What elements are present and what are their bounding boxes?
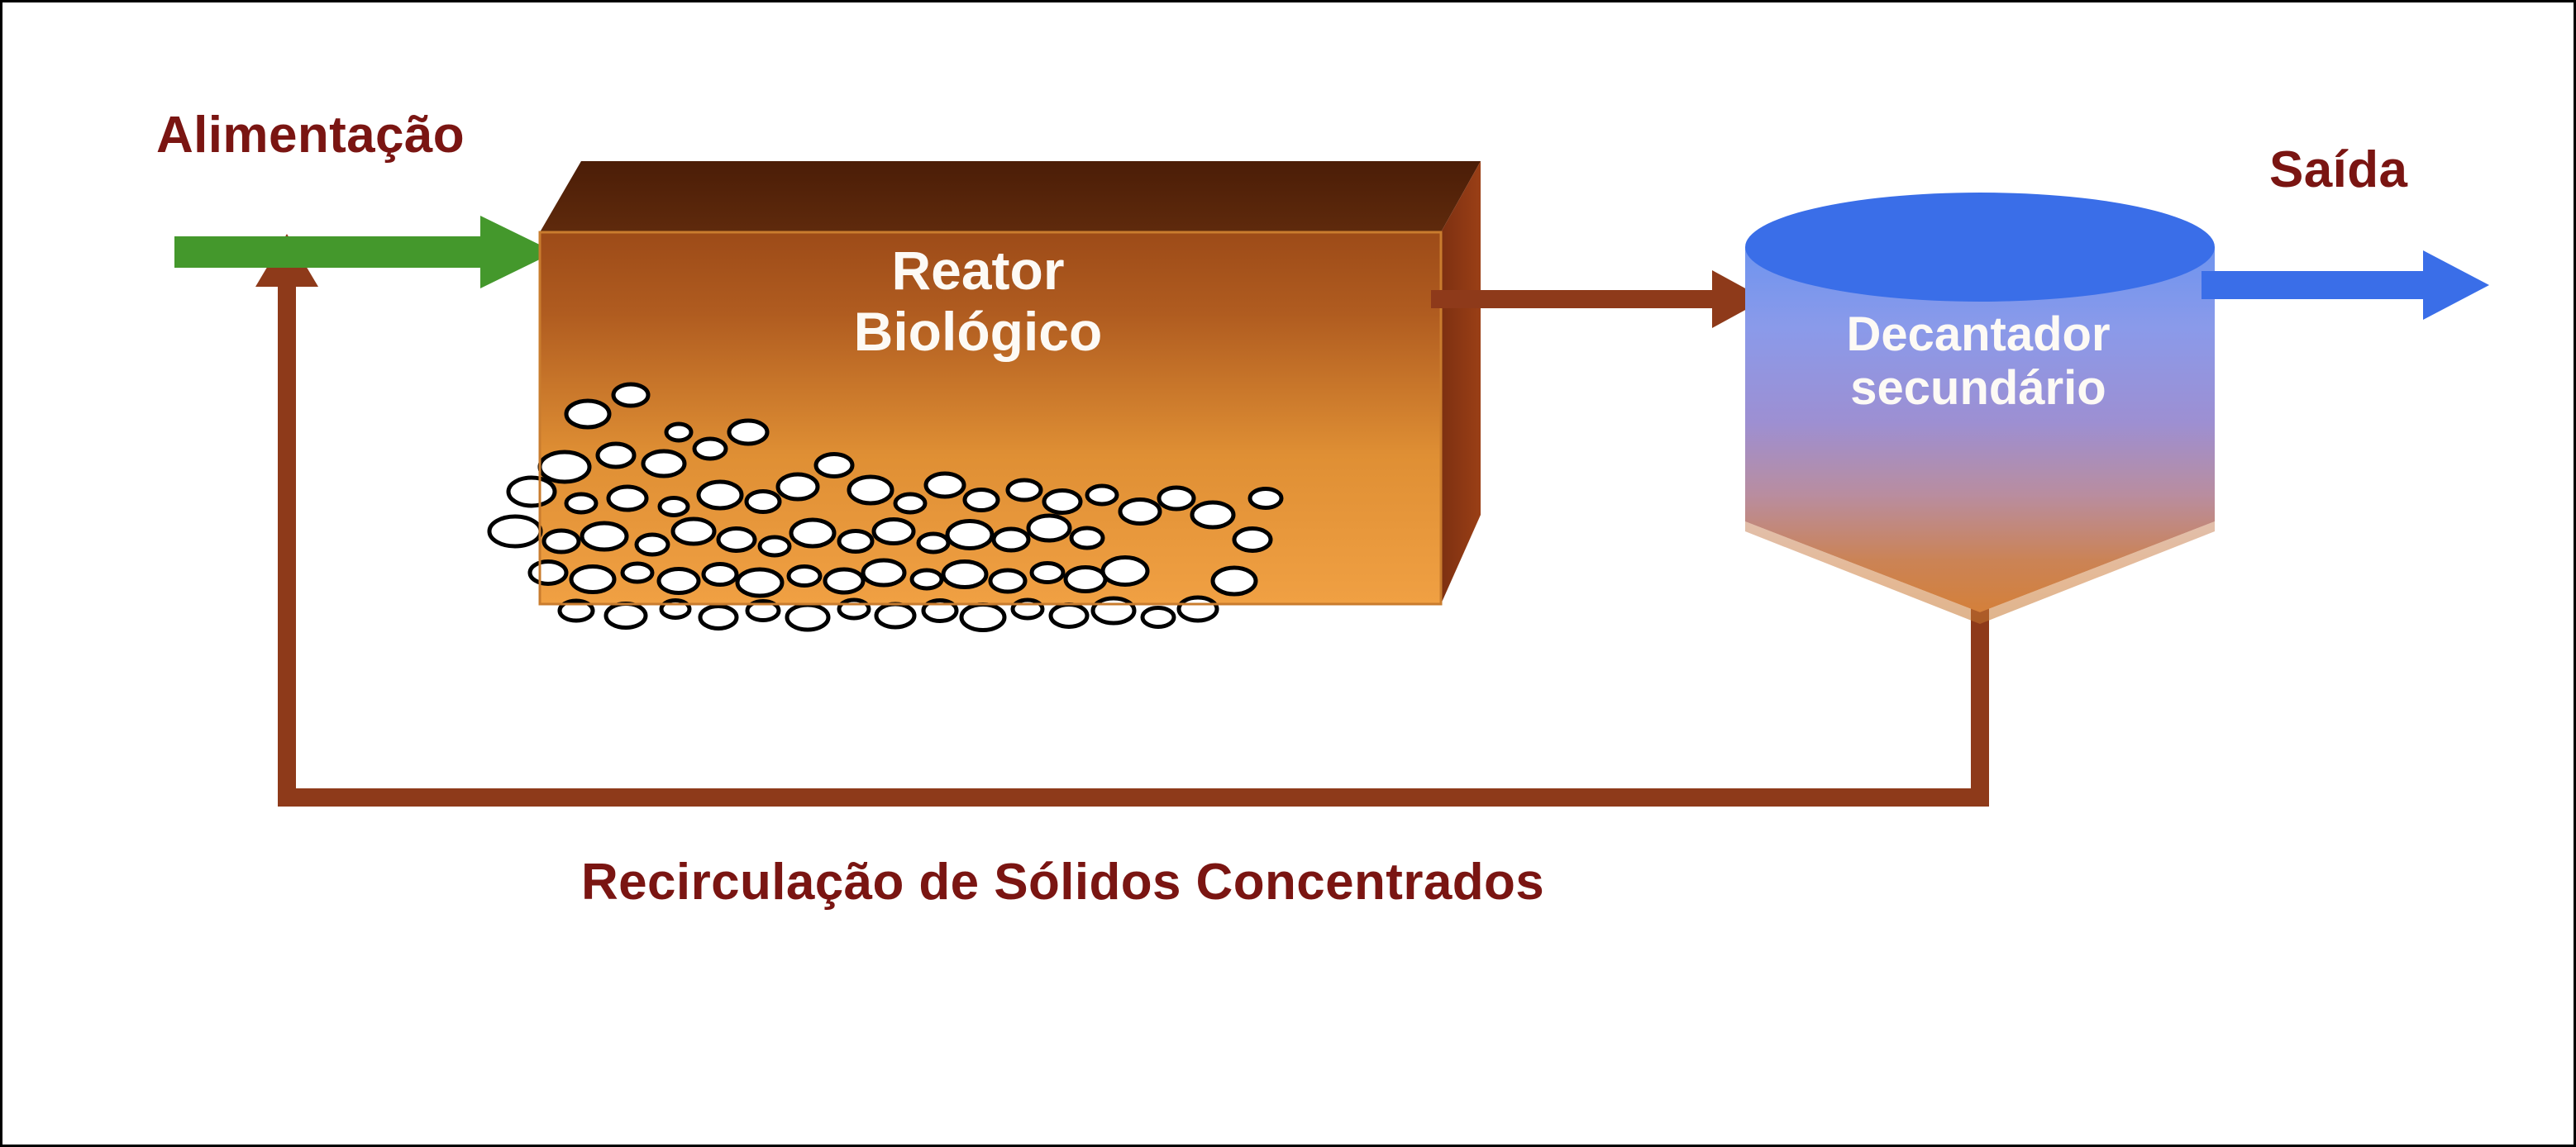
floc-particle xyxy=(700,607,737,629)
floc-particle xyxy=(863,560,904,585)
floc-particle xyxy=(643,451,685,476)
floc-particle xyxy=(694,439,726,459)
floc-particle xyxy=(895,494,925,512)
diagram-graphics xyxy=(2,2,2576,1147)
floc-particle xyxy=(1192,502,1233,527)
floc-particle xyxy=(608,487,646,510)
reactor-to-clarifier-arrow xyxy=(1431,270,1765,328)
floc-particle xyxy=(666,424,691,440)
reactor-label-line2: Biológico xyxy=(689,302,1267,363)
floc-particle xyxy=(1008,480,1041,500)
floc-particle xyxy=(760,537,789,555)
floc-particle xyxy=(789,567,820,586)
floc-particle xyxy=(718,529,755,551)
floc-particle xyxy=(849,477,892,503)
floc-particle xyxy=(571,567,614,593)
floc-particle xyxy=(613,384,648,406)
floc-particle xyxy=(918,534,948,552)
floc-particle xyxy=(704,564,737,585)
floc-particle xyxy=(673,519,714,544)
floc-particle xyxy=(1250,489,1281,508)
floc-particle xyxy=(926,474,964,497)
floc-particle xyxy=(606,604,646,628)
clarifier-label: Decantador secundário xyxy=(1747,308,2210,416)
feed-arrow xyxy=(174,216,555,288)
floc-particle xyxy=(876,604,914,627)
clarifier-label-line2: secundário xyxy=(1747,362,2210,416)
floc-particle xyxy=(737,569,782,596)
floc-particle xyxy=(816,455,852,477)
floc-particle xyxy=(699,482,742,508)
floc-particle xyxy=(1234,529,1271,551)
floc-particle xyxy=(778,474,818,499)
floc-particle xyxy=(943,562,986,588)
floc-particle xyxy=(839,600,869,618)
floc-particle xyxy=(990,570,1025,592)
outlet-label: Saída xyxy=(2269,141,2407,198)
floc-particle xyxy=(1093,598,1134,623)
bioreactor-unit xyxy=(489,161,1481,631)
floc-particle xyxy=(1179,597,1217,621)
feed-label: Alimentação xyxy=(156,107,465,164)
floc-particle xyxy=(623,564,652,582)
floc-particle xyxy=(965,490,998,511)
floc-particle xyxy=(747,492,780,512)
floc-particle xyxy=(1143,608,1174,627)
floc-particle xyxy=(1120,500,1160,524)
floc-particle xyxy=(544,531,579,552)
floc-particle xyxy=(637,535,668,554)
floc-particle xyxy=(1013,600,1042,618)
floc-particle xyxy=(791,520,834,546)
reactor-label: Reator Biológico xyxy=(689,240,1267,363)
floc-particle xyxy=(994,529,1028,550)
reactor-label-line1: Reator xyxy=(689,240,1267,302)
floc-particle xyxy=(912,570,942,588)
floc-particle xyxy=(489,516,541,546)
floc-particle xyxy=(1159,488,1194,509)
floc-particle xyxy=(1071,528,1103,548)
floc-particle xyxy=(947,521,992,549)
floc-particle xyxy=(1028,516,1070,540)
recirculation-label: Recirculação de Sólidos Concentrados xyxy=(581,854,1544,911)
floc-particle xyxy=(1051,605,1087,627)
floc-particle xyxy=(729,421,767,444)
floc-particle xyxy=(582,523,627,550)
floc-particle xyxy=(540,452,589,482)
effluent-arrow xyxy=(2202,250,2489,320)
diagram-canvas: Alimentação Saída Recirculação de Sólido… xyxy=(0,0,2576,1147)
floc-particle xyxy=(566,401,609,427)
floc-particle xyxy=(1087,486,1117,504)
floc-particle xyxy=(825,569,863,593)
floc-particle xyxy=(659,569,699,593)
clarifier-label-line1: Decantador xyxy=(1747,308,2210,362)
floc-particle xyxy=(508,478,555,506)
floc-particle xyxy=(660,498,688,516)
floc-particle xyxy=(1032,564,1063,583)
floc-particle xyxy=(961,605,1004,631)
floc-particle xyxy=(598,444,634,467)
floc-particle xyxy=(839,531,872,552)
floc-particle xyxy=(566,494,596,512)
floc-particle xyxy=(1103,558,1147,585)
floc-particle xyxy=(787,605,828,630)
floc-particle xyxy=(530,562,566,584)
floc-particle xyxy=(874,520,914,544)
floc-particle xyxy=(1213,568,1256,594)
floc-particle xyxy=(1066,568,1105,592)
floc-particle xyxy=(1044,491,1080,513)
